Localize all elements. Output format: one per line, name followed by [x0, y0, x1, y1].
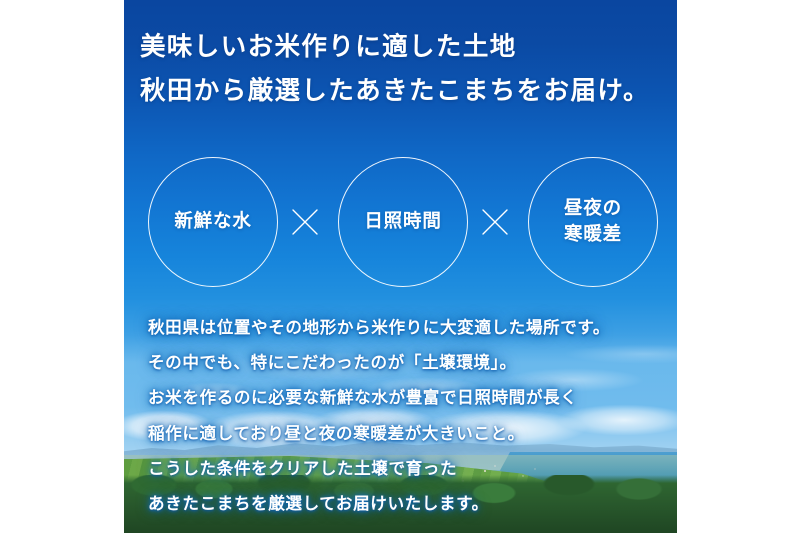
body-line-2: その中でも、特にこだわったのが「土壌環境」。	[148, 345, 658, 380]
body-line-5: こうした条件をクリアした土壌で育った	[148, 451, 658, 486]
body-line-3: お米を作るのに必要な新鮮な水が豊富で日照時間が長く	[148, 380, 658, 415]
promotional-banner: 美味しいお米作りに適した土地 秋田から厳選したあきたこまちをお届け。 新鮮な水 …	[124, 0, 677, 533]
multiply-icon	[290, 207, 320, 237]
factor-circle-fresh-water: 新鮮な水	[148, 157, 278, 287]
body-line-4: 稲作に適しており昼と夜の寒暖差が大きいこと。	[148, 416, 658, 451]
factor-label-line-1: 昼夜の	[564, 198, 622, 219]
factor-label: 新鮮な水	[174, 209, 251, 235]
factor-label: 日照時間	[364, 209, 441, 235]
body-line-6: あきたこまちを厳選してお届けいたします。	[148, 486, 658, 521]
screenshot-canvas: 美味しいお米作りに適した土地 秋田から厳選したあきたこまちをお届け。 新鮮な水 …	[0, 0, 800, 533]
multiply-icon	[480, 207, 510, 237]
body-line-1: 秋田県は位置やその地形から米作りに大変適した場所です。	[148, 310, 658, 345]
factor-circle-sunshine-hours: 日照時間	[338, 157, 468, 287]
headline: 美味しいお米作りに適した土地 秋田から厳選したあきたこまちをお届け。	[140, 26, 665, 114]
headline-line-1: 美味しいお米作りに適した土地	[140, 26, 665, 70]
body-copy: 秋田県は位置やその地形から米作りに大変適した場所です。 その中でも、特にこだわっ…	[148, 310, 658, 521]
headline-line-2: 秋田から厳選したあきたこまちをお届け。	[140, 70, 665, 114]
factor-label-line-2: 寒暖差	[564, 224, 622, 245]
factor-label: 昼夜の 寒暖差	[564, 196, 622, 249]
factor-circle-temperature-range: 昼夜の 寒暖差	[528, 157, 658, 287]
factor-circles-row: 新鮮な水 日照時間 昼夜の 寒暖差	[124, 157, 677, 289]
